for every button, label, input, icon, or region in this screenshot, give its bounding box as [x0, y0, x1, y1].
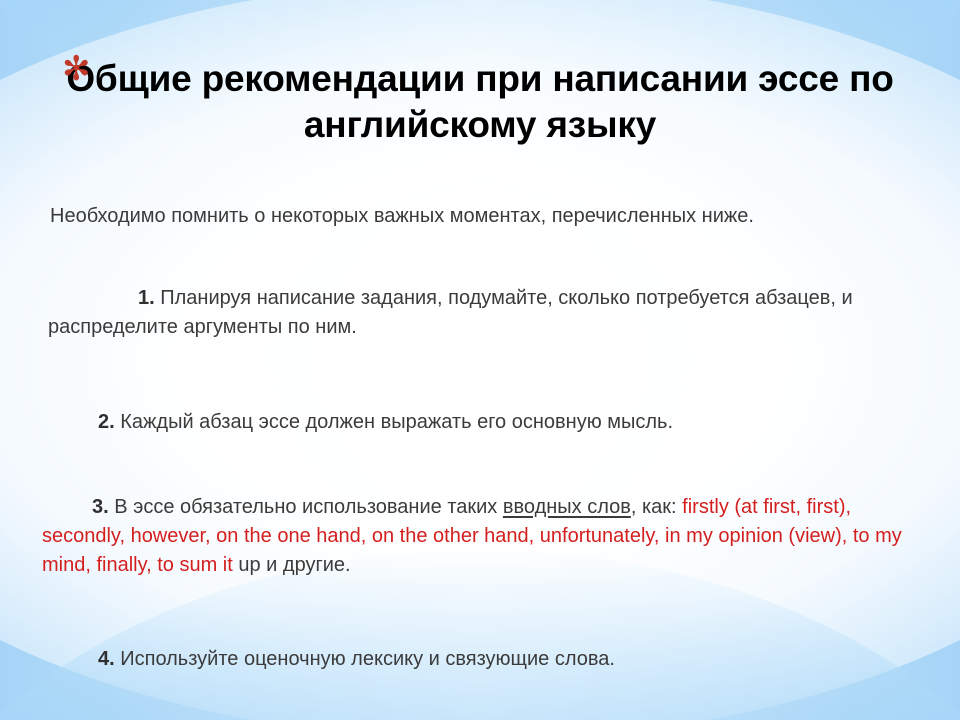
list-item-3: 3. В эссе обязательно использование таки…: [42, 493, 920, 580]
list-item-3-lead: В эссе обязательно использование таких: [109, 496, 503, 518]
title-block: ✻ Общие рекомендации при написании эссе …: [0, 56, 960, 148]
list-item-3-underlined-phrase: вводных слов: [503, 496, 631, 518]
page-title: Общие рекомендации при написании эссе по…: [0, 56, 960, 148]
slide-content: ✻ Общие рекомендации при написании эссе …: [0, 0, 960, 720]
slide-canvas: ✻ Общие рекомендации при написании эссе …: [0, 0, 960, 720]
list-item-1-text: Планируя написание задания, подумайте, с…: [48, 287, 853, 338]
list-item-2-text: Каждый абзац эссе должен выражать его ос…: [115, 411, 673, 433]
asterisk-bullet-icon: ✻: [62, 52, 91, 86]
list-item-4-number: 4.: [98, 648, 115, 670]
list-item-3-number: 3.: [92, 496, 109, 518]
list-item-1: 1. Планируя написание задания, подумайте…: [48, 284, 914, 342]
intro-paragraph: Необходимо помнить о некоторых важных мо…: [50, 202, 930, 230]
list-item-2: 2. Каждый абзац эссе должен выражать его…: [48, 408, 928, 437]
list-item-3-mid: , как:: [631, 496, 682, 518]
list-item-4-text: Используйте оценочную лексику и связующи…: [115, 648, 615, 670]
list-item-3-tail: up и другие.: [233, 554, 351, 576]
list-item-4: 4. Используйте оценочную лексику и связу…: [48, 645, 928, 674]
list-item-2-number: 2.: [98, 411, 115, 433]
list-item-1-number: 1.: [138, 287, 155, 309]
